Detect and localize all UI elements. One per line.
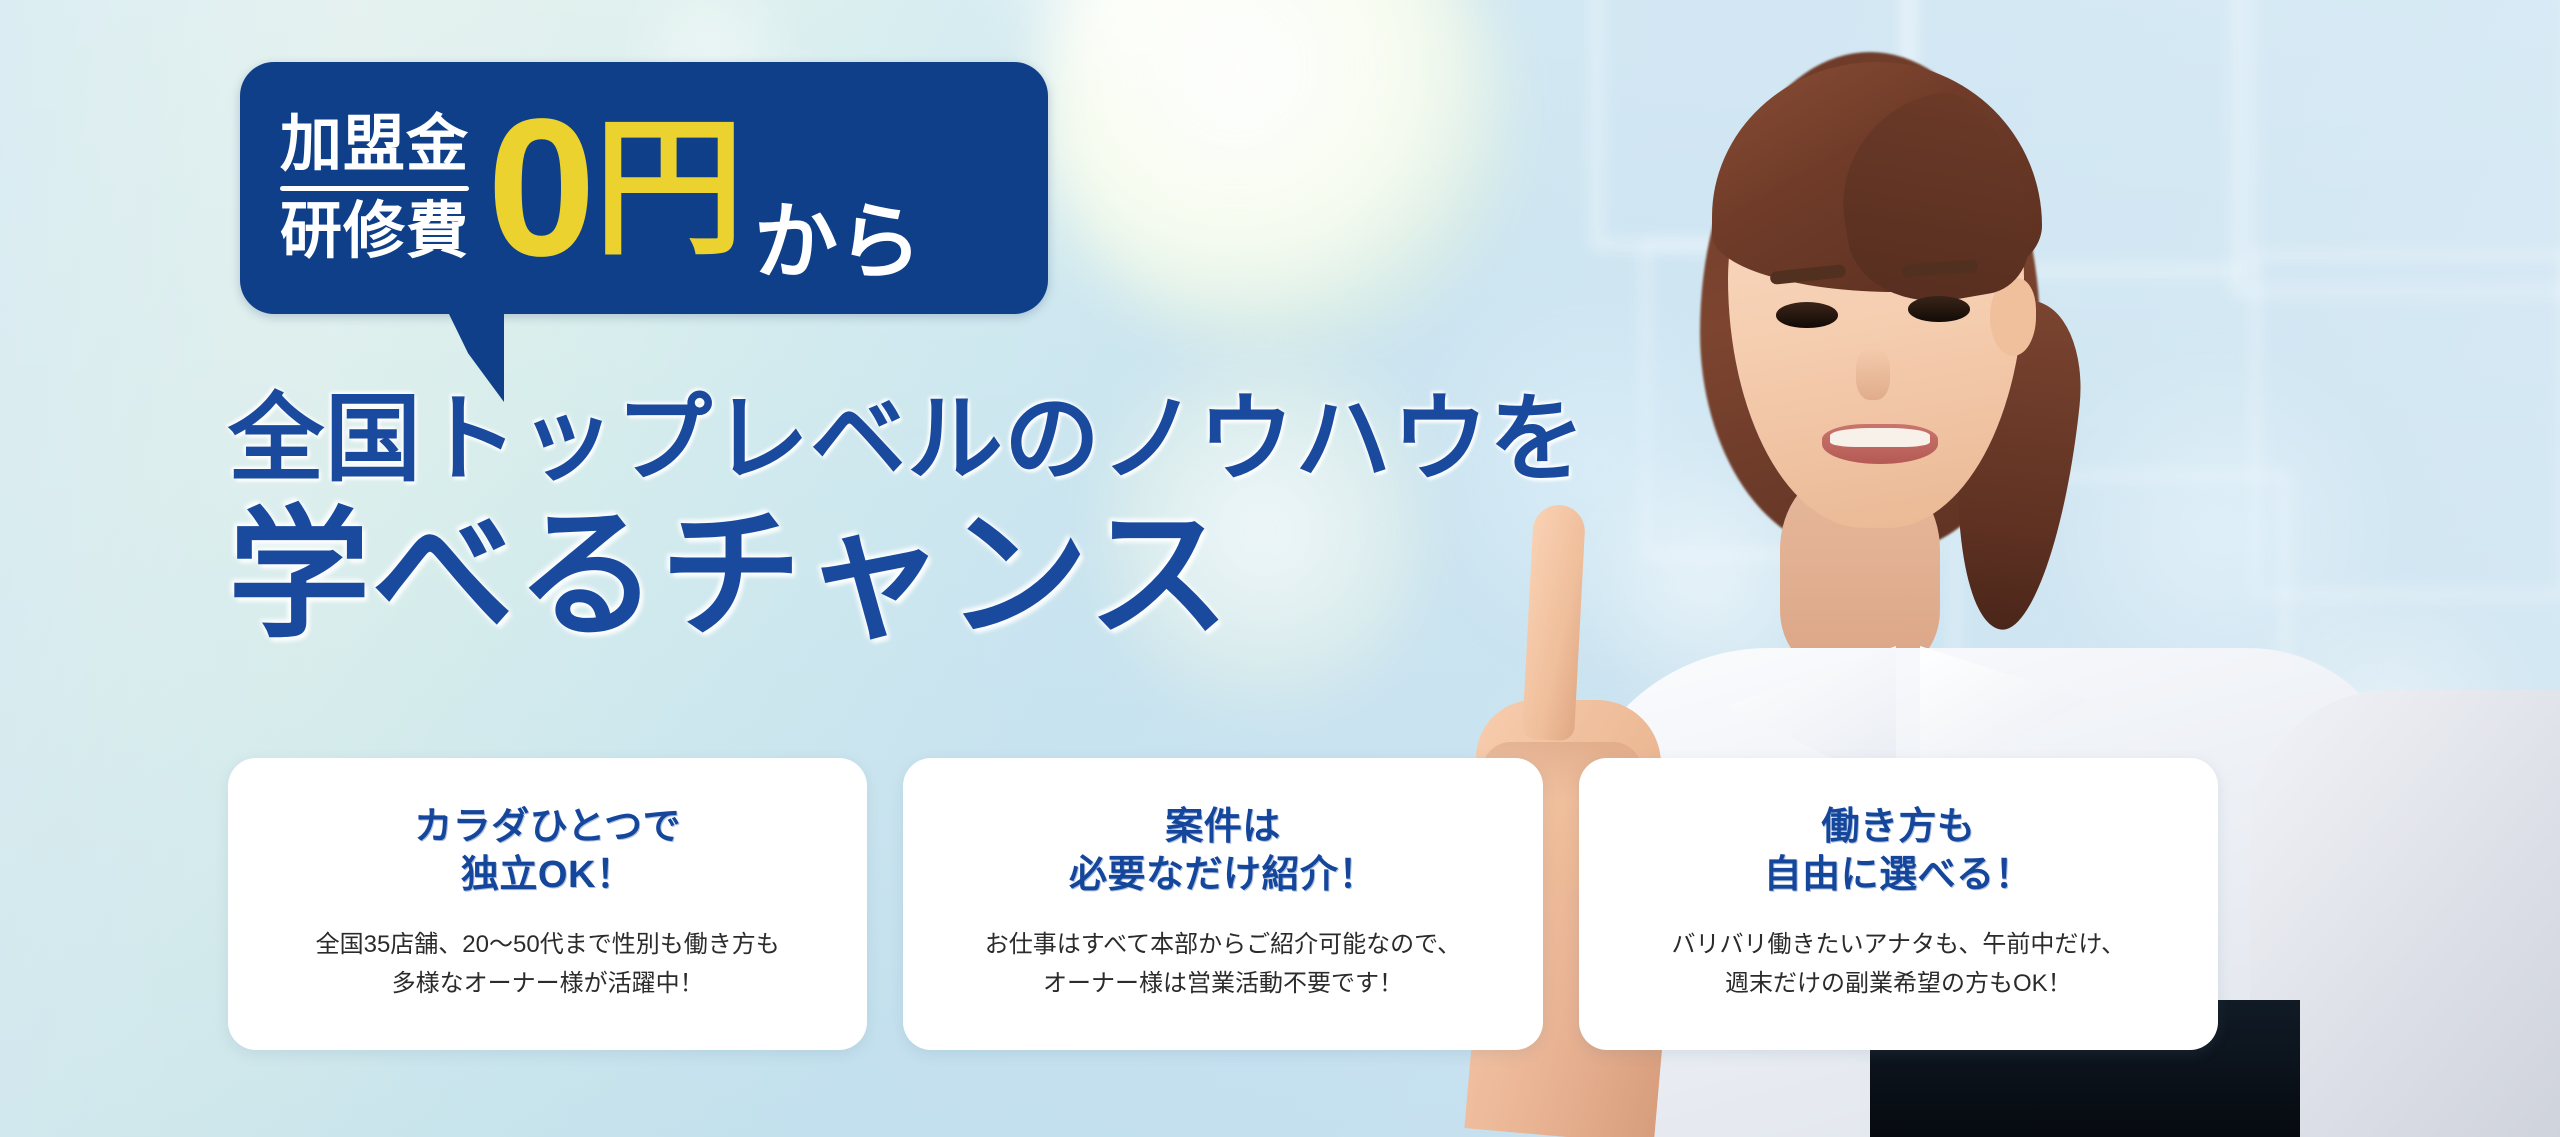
feature-card-1[interactable]: カラダひとつで 独立OK！ 全国35店舗、20〜50代まで性別も働き方も 多様な… (228, 758, 867, 1050)
model-teeth (1830, 428, 1930, 447)
model-nose (1856, 348, 1890, 400)
feature-card-title: カラダひとつで 独立OK！ (414, 803, 681, 900)
headline-line-1: 全国トップレベルのノウハウを (228, 388, 1648, 492)
price-amount: 0 円 (487, 102, 744, 274)
model-eye-left (1776, 302, 1838, 328)
model-mouth (1822, 424, 1938, 464)
fee-labels: 加盟金 研修費 (280, 113, 469, 262)
feature-card-description: お仕事はすべて本部からご紹介可能なので、 オーナー様は営業活動不要です！ (985, 926, 1461, 1004)
feature-card-description: バリバリ働きたいアナタも、午前中だけ、 週末だけの副業希望の方もOK！ (1672, 926, 2126, 1004)
hero-banner: 加盟金 研修費 0 円 から 全国トップレベルのノウハウを 学べるチャンス カラ… (0, 0, 2560, 1137)
feature-card-title: 案件は 必要なだけ紹介！ (1069, 803, 1377, 900)
feature-card-2[interactable]: 案件は 必要なだけ紹介！ お仕事はすべて本部からご紹介可能なので、 オーナー様は… (903, 758, 1542, 1050)
fee-divider (280, 186, 469, 191)
feature-card-description: 全国35店舗、20〜50代まで性別も働き方も 多様なオーナー様が活躍中！ (316, 926, 780, 1004)
price-badge: 加盟金 研修費 0 円 から (240, 62, 1048, 314)
price-unit: 円 (594, 122, 744, 254)
franchise-fee-label: 加盟金 (280, 113, 469, 176)
model-eye-right (1908, 296, 1970, 322)
price-badge-content: 加盟金 研修費 0 円 から (240, 62, 1048, 314)
headline-line-2: 学べるチャンス (228, 498, 1648, 654)
price-suffix: から (754, 200, 922, 284)
headline: 全国トップレベルのノウハウを 学べるチャンス (228, 388, 1648, 654)
price-number: 0 (487, 102, 592, 274)
feature-card-3[interactable]: 働き方も 自由に選べる！ バリバリ働きたいアナタも、午前中だけ、 週末だけの副業… (1579, 758, 2218, 1050)
feature-card-title: 働き方も 自由に選べる！ (1764, 803, 2034, 900)
feature-card-list: カラダひとつで 独立OK！ 全国35店舗、20〜50代まで性別も働き方も 多様な… (228, 758, 2218, 1050)
training-fee-label: 研修費 (280, 200, 469, 263)
